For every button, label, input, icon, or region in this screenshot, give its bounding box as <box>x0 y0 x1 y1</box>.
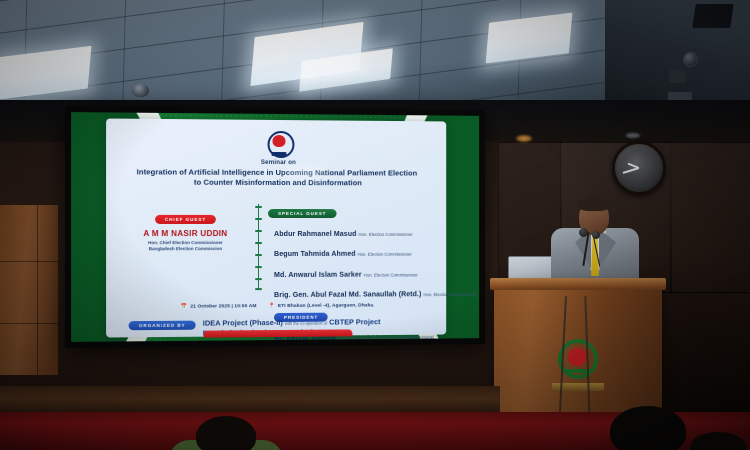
microphone-icon <box>579 228 588 237</box>
guest-name: Brig. Gen. Abul Fazal Md. Sanaullah (Ret… <box>274 291 421 300</box>
organizer-cooperation-note: with the co-operation of <box>285 321 327 326</box>
special-guest-row: Abdur Rahmanel MasudHon. Election Commis… <box>274 223 436 241</box>
guest-role: Hon. Election Commissioner <box>364 272 418 277</box>
slide-divider <box>255 204 262 290</box>
speaker-hair <box>578 198 610 211</box>
seminar-hall-photo: Seminar on Integration of Artificial Int… <box>0 0 750 450</box>
slide-date: 21 October 2025 | 10:00 AM <box>190 304 256 309</box>
slide-bottom-red-bar <box>204 329 353 337</box>
slide-content-card: Seminar on Integration of Artificial Int… <box>106 118 446 337</box>
audience-member-head <box>610 406 686 450</box>
microphone-icon <box>592 231 600 239</box>
chief-guest-role-line2: Bangladesh Election Commission <box>124 246 246 253</box>
map-pin-icon: 📍 <box>269 303 275 309</box>
chief-guest-name: A M M NASIR UDDIN <box>124 229 246 238</box>
wall-panel <box>670 142 750 294</box>
left-wood-paneling <box>0 205 58 375</box>
special-guest-row: Begum Tahmida AhmedHon. Election Commiss… <box>274 243 436 261</box>
guest-role: Hon. Election Commissioner <box>423 292 477 297</box>
guest-role: Hon. Election Commissioner <box>358 232 412 237</box>
chief-guest-block: CHIEF GUEST A M M NASIR UDDIN Hon. Chief… <box>124 208 246 253</box>
special-guest-row: Md. Anwarul Islam SarkerHon. Election Co… <box>274 263 436 281</box>
wall-clock-icon <box>612 141 666 195</box>
slide-location: ETI Bhaban (Level -4), Agargaon, Dhaka. <box>278 303 375 309</box>
slide-title-main: Integration of Artificial Intelligence i… <box>114 167 438 189</box>
chief-guest-badge: CHIEF GUEST <box>155 215 217 224</box>
clock-spotlight <box>626 133 640 138</box>
ceiling-vent <box>692 4 733 28</box>
dome-camera-icon <box>132 84 149 97</box>
slide-title-line1: Integration of Artificial Intelligence i… <box>114 167 438 179</box>
clock-minute-hand <box>622 167 639 174</box>
bangladesh-election-commission-logo-icon <box>266 130 291 155</box>
special-guest-badge: SPECIAL GUEST <box>268 209 336 218</box>
slide-title-small: Seminar on <box>106 158 446 167</box>
organizer-cbtep-project: CBTEP Project <box>329 317 380 326</box>
special-guest-row: Brig. Gen. Abul Fazal Md. Sanaullah (Ret… <box>274 284 436 303</box>
stage-skirt <box>0 386 500 414</box>
calendar-icon: 📅 <box>181 304 187 310</box>
slide-title-line2: to Counter Misinformation and Disinforma… <box>114 178 438 190</box>
guest-name: Md. Anwarul Islam Sarker <box>274 270 362 278</box>
ceiling-speaker-icon <box>683 52 698 67</box>
guest-role: Hon. Election Commissioner <box>358 252 412 257</box>
audience-member-head <box>196 416 256 450</box>
election-commission-emblem-icon <box>558 339 598 379</box>
presentation-slide: Seminar on Integration of Artificial Int… <box>71 112 479 342</box>
screen-surface: Seminar on Integration of Artificial Int… <box>71 112 479 342</box>
organized-by-badge: ORGANIZED BY <box>129 321 196 331</box>
clock-face <box>620 149 658 187</box>
wall-device-box <box>669 70 686 83</box>
guest-name: Begum Tahmida Ahmed <box>274 250 356 258</box>
wall-downlight <box>516 135 532 142</box>
guest-name: Abdur Rahmanel Masud <box>274 230 356 238</box>
screen-glare <box>284 166 328 179</box>
led-display-screen: Seminar on Integration of Artificial Int… <box>65 106 485 348</box>
podium-top-surface <box>490 278 666 290</box>
organizer-idea-project: IDEA Project (Phase-II) <box>203 318 283 328</box>
